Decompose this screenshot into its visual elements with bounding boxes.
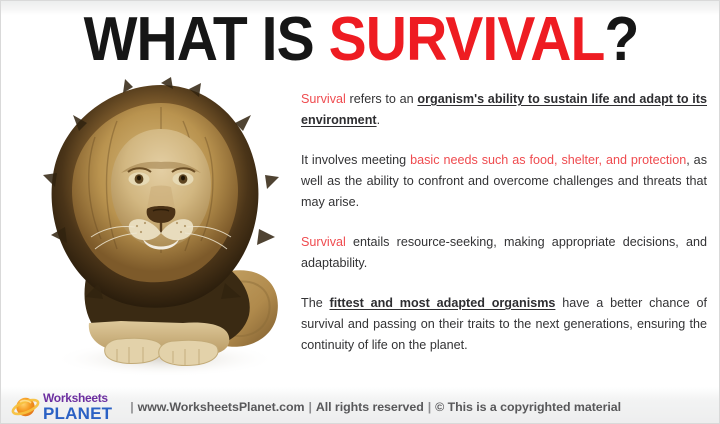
page-title: WHAT IS SURVIVAL?	[30, 7, 692, 73]
run-text: .	[377, 113, 381, 127]
run-highlight: basic needs such as food, shelter, and p…	[410, 153, 686, 167]
planet-icon	[11, 394, 41, 420]
footer-bar: Worksheets PLANET |www.WorksheetsPlanet.…	[1, 389, 720, 424]
logo-word-planet: PLANET	[43, 405, 112, 422]
worksheet-poster: WHAT IS SURVIVAL?	[0, 0, 720, 424]
run-underline: fittest and most adapted organisms	[330, 296, 556, 310]
footer-separator-3: |	[424, 400, 435, 414]
worksheets-planet-logo[interactable]: Worksheets PLANET	[11, 392, 112, 422]
paragraph-fittest: The fittest and most adapted organisms h…	[301, 293, 707, 356]
title-part-what-is: WHAT IS	[84, 5, 329, 74]
footer-rights: All rights reserved	[316, 400, 424, 414]
run-text: entails resource-seeking, making appropr…	[301, 235, 707, 270]
run-highlight: Survival	[301, 235, 346, 249]
footer-separator-1: |	[126, 400, 137, 414]
title-question-mark: ?	[604, 5, 638, 74]
logo-word-worksheets: Worksheets	[43, 392, 112, 404]
footer-website[interactable]: www.WorksheetsPlanet.com	[138, 400, 305, 414]
footer-separator-2: |	[304, 400, 315, 414]
run-text: refers to an	[346, 92, 418, 106]
paragraph-entails: Survival entails resource-seeking, makin…	[301, 232, 707, 274]
footer-credits: |www.WorksheetsPlanet.com|All rights res…	[126, 400, 621, 414]
paragraph-basic-needs: It involves meeting basic needs such as …	[301, 150, 707, 213]
run-text: The	[301, 296, 330, 310]
footer-copyright: © This is a copyrighted material	[435, 400, 621, 414]
logo-wordmark: Worksheets PLANET	[43, 392, 112, 422]
run-text: It involves meeting	[301, 153, 410, 167]
body-copy: Survival refers to an organism's ability…	[301, 89, 707, 356]
title-part-survival: SURVIVAL	[329, 5, 605, 74]
run-highlight: Survival	[301, 92, 346, 106]
lion-photo	[25, 77, 297, 379]
paragraph-definition: Survival refers to an organism's ability…	[301, 89, 707, 131]
